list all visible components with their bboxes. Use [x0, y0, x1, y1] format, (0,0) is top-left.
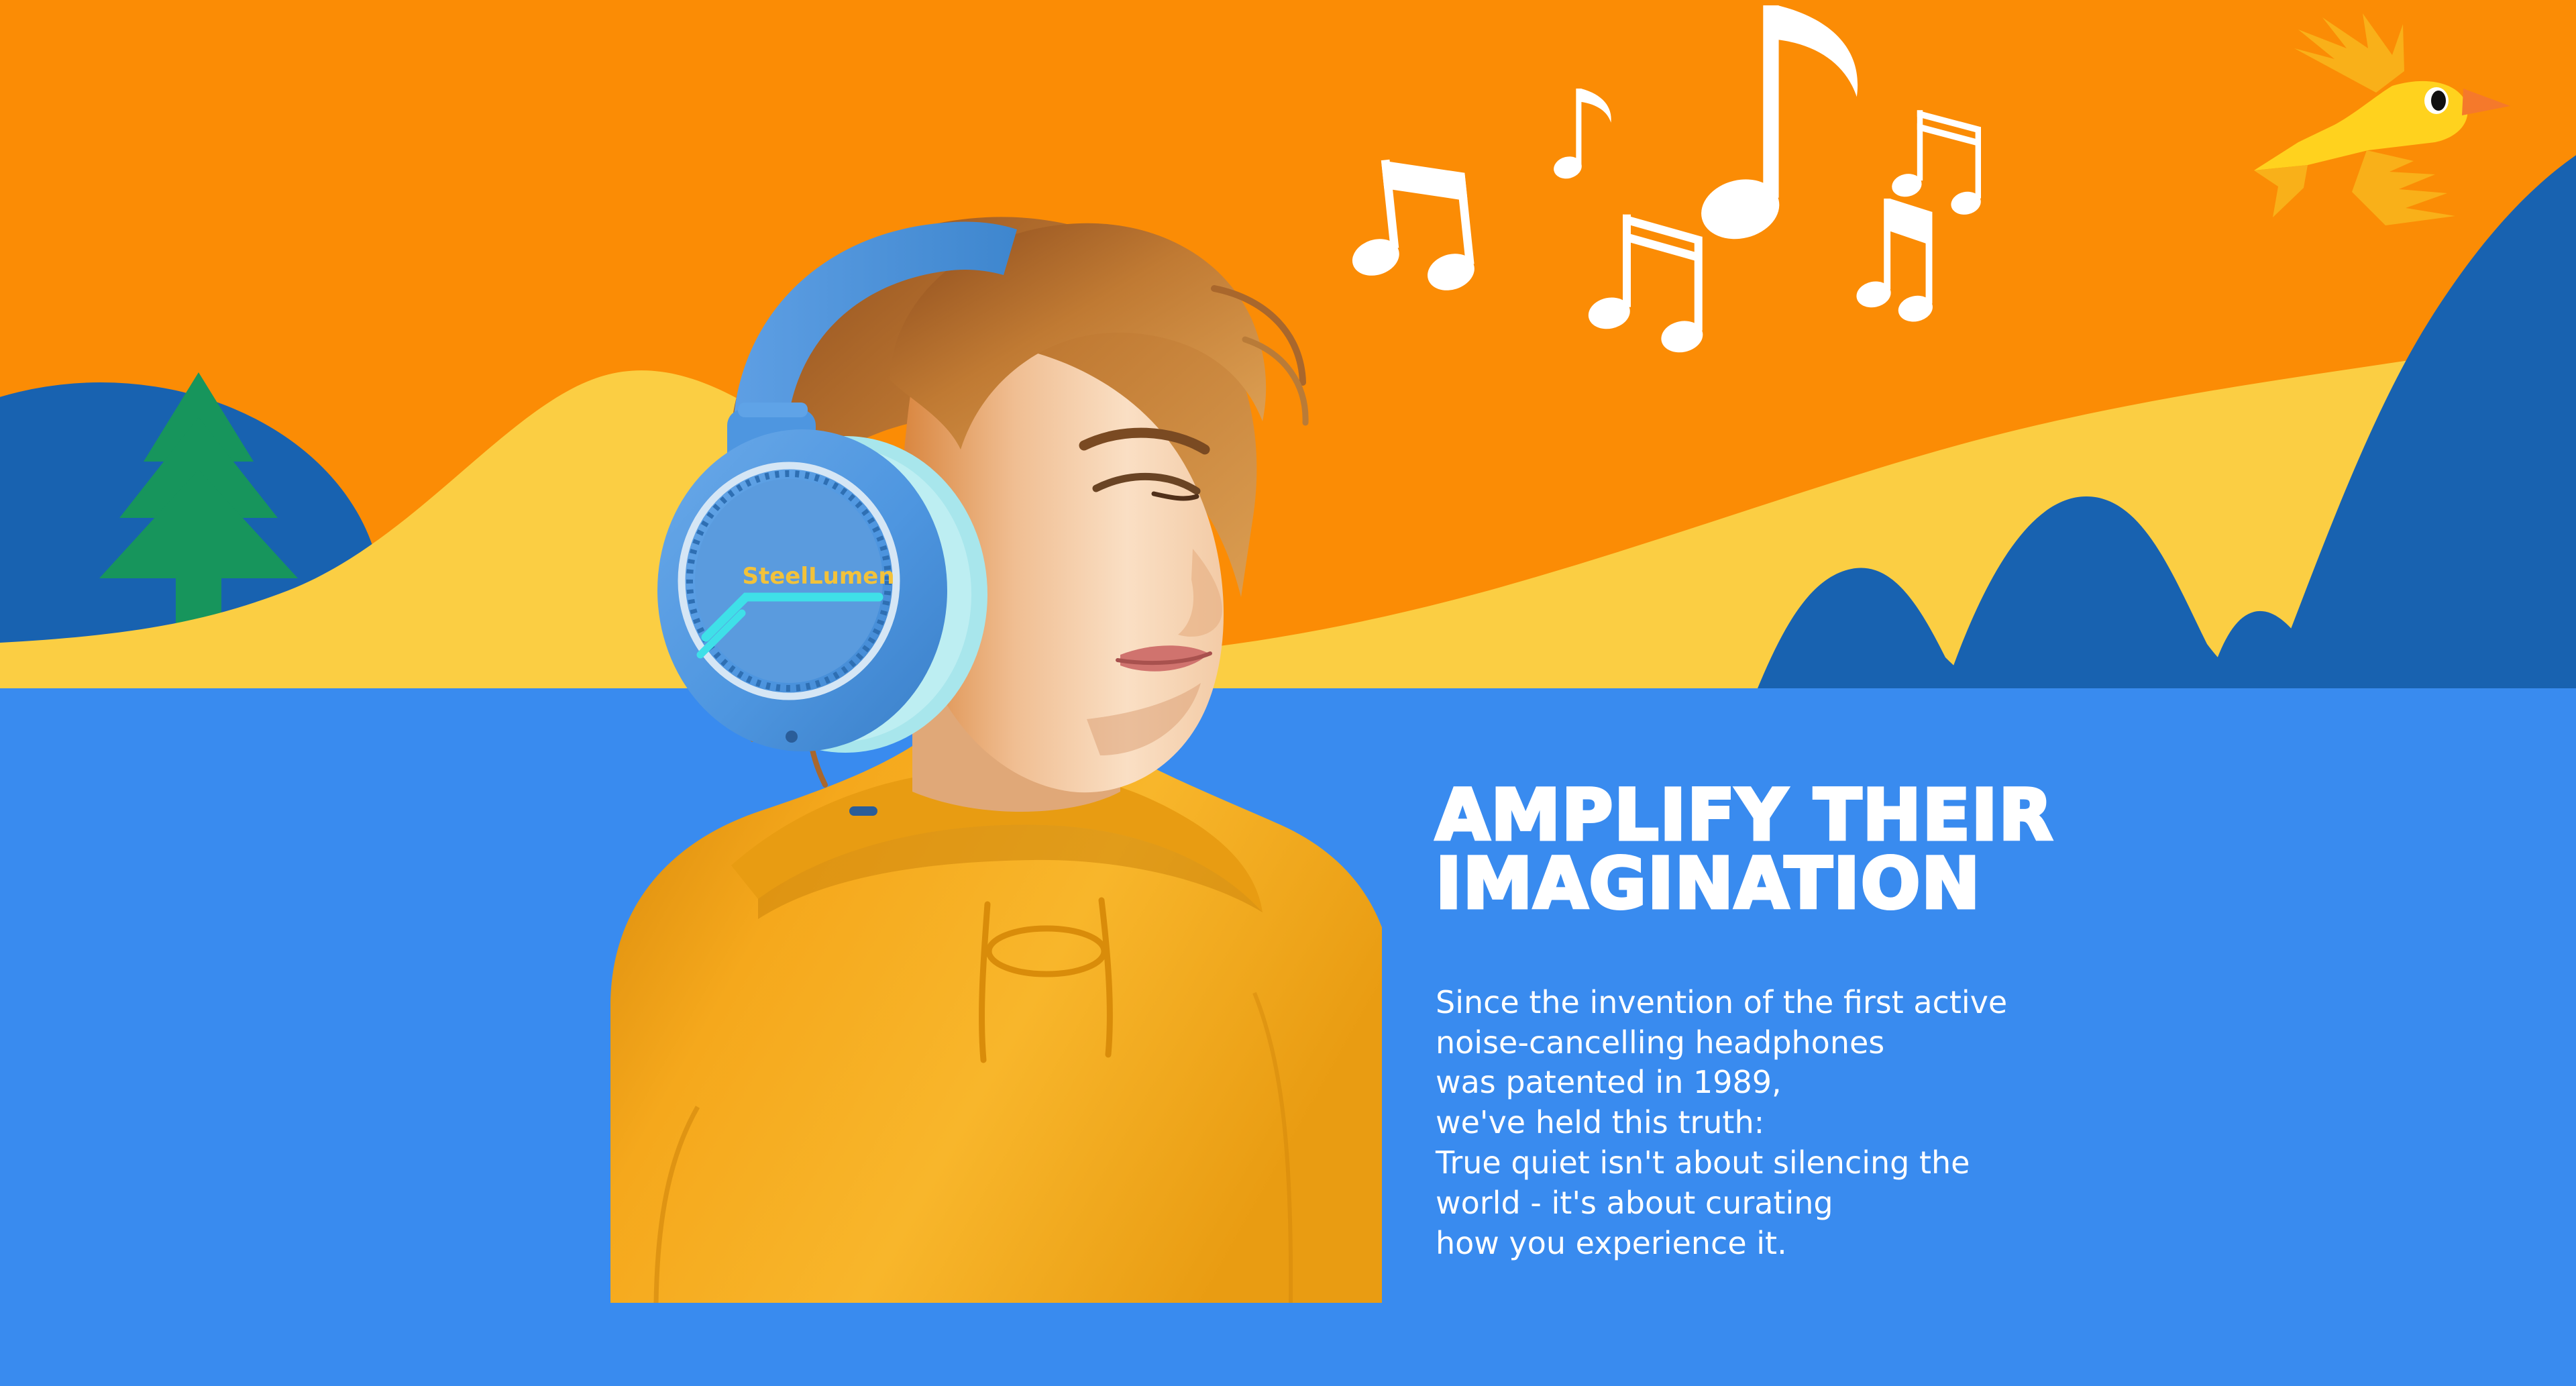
- music-note-beamed-pair-3-icon: [1585, 215, 1705, 356]
- music-note-eighth-large-icon: [1695, 5, 1858, 247]
- body-paragraph: Since the invention of the first active …: [1436, 918, 2227, 1264]
- body-line-1: Since the invention of the first active: [1436, 983, 2227, 1023]
- brand-name-steellumen: SteelLumen: [742, 563, 894, 590]
- body-line-6: world - it's about curating: [1436, 1183, 2227, 1224]
- port-slot: [849, 806, 877, 816]
- body-line-3: was patented in 1989,: [1436, 1063, 2227, 1103]
- boy-with-headphones-photo: SL SteelLumen: [443, 168, 1382, 1303]
- mic-hole: [786, 731, 798, 743]
- flying-bird-icon: [2234, 7, 2516, 228]
- body-line-5: True quiet isn't about silencing the: [1436, 1143, 2227, 1183]
- music-note-beamed-pair-2-icon: [1890, 110, 1983, 217]
- headline-line-1: AMPLiFY THEiR: [1436, 782, 2227, 850]
- music-note-eighth-2-icon: [1854, 199, 1935, 325]
- copy-block: AMPLiFY THEiR iMAGiNATiON Since the inve…: [1436, 782, 2227, 1263]
- body-line-4: we've held this truth:: [1436, 1103, 2227, 1143]
- body-line-7: how you experience it.: [1436, 1224, 2227, 1264]
- body-line-2: noise-cancelling headphones: [1436, 1023, 2227, 1063]
- page-title: AMPLiFY THEiR iMAGiNATiON: [1436, 782, 2227, 918]
- music-note-eighth-icon: [1552, 89, 1611, 182]
- headline-line-2: iMAGiNATiON: [1436, 850, 2227, 918]
- banner-canvas: SL SteelLumen AMPLiFY THEiR iMAGiNA: [0, 0, 2576, 1386]
- headband-slider-notch: [738, 403, 808, 417]
